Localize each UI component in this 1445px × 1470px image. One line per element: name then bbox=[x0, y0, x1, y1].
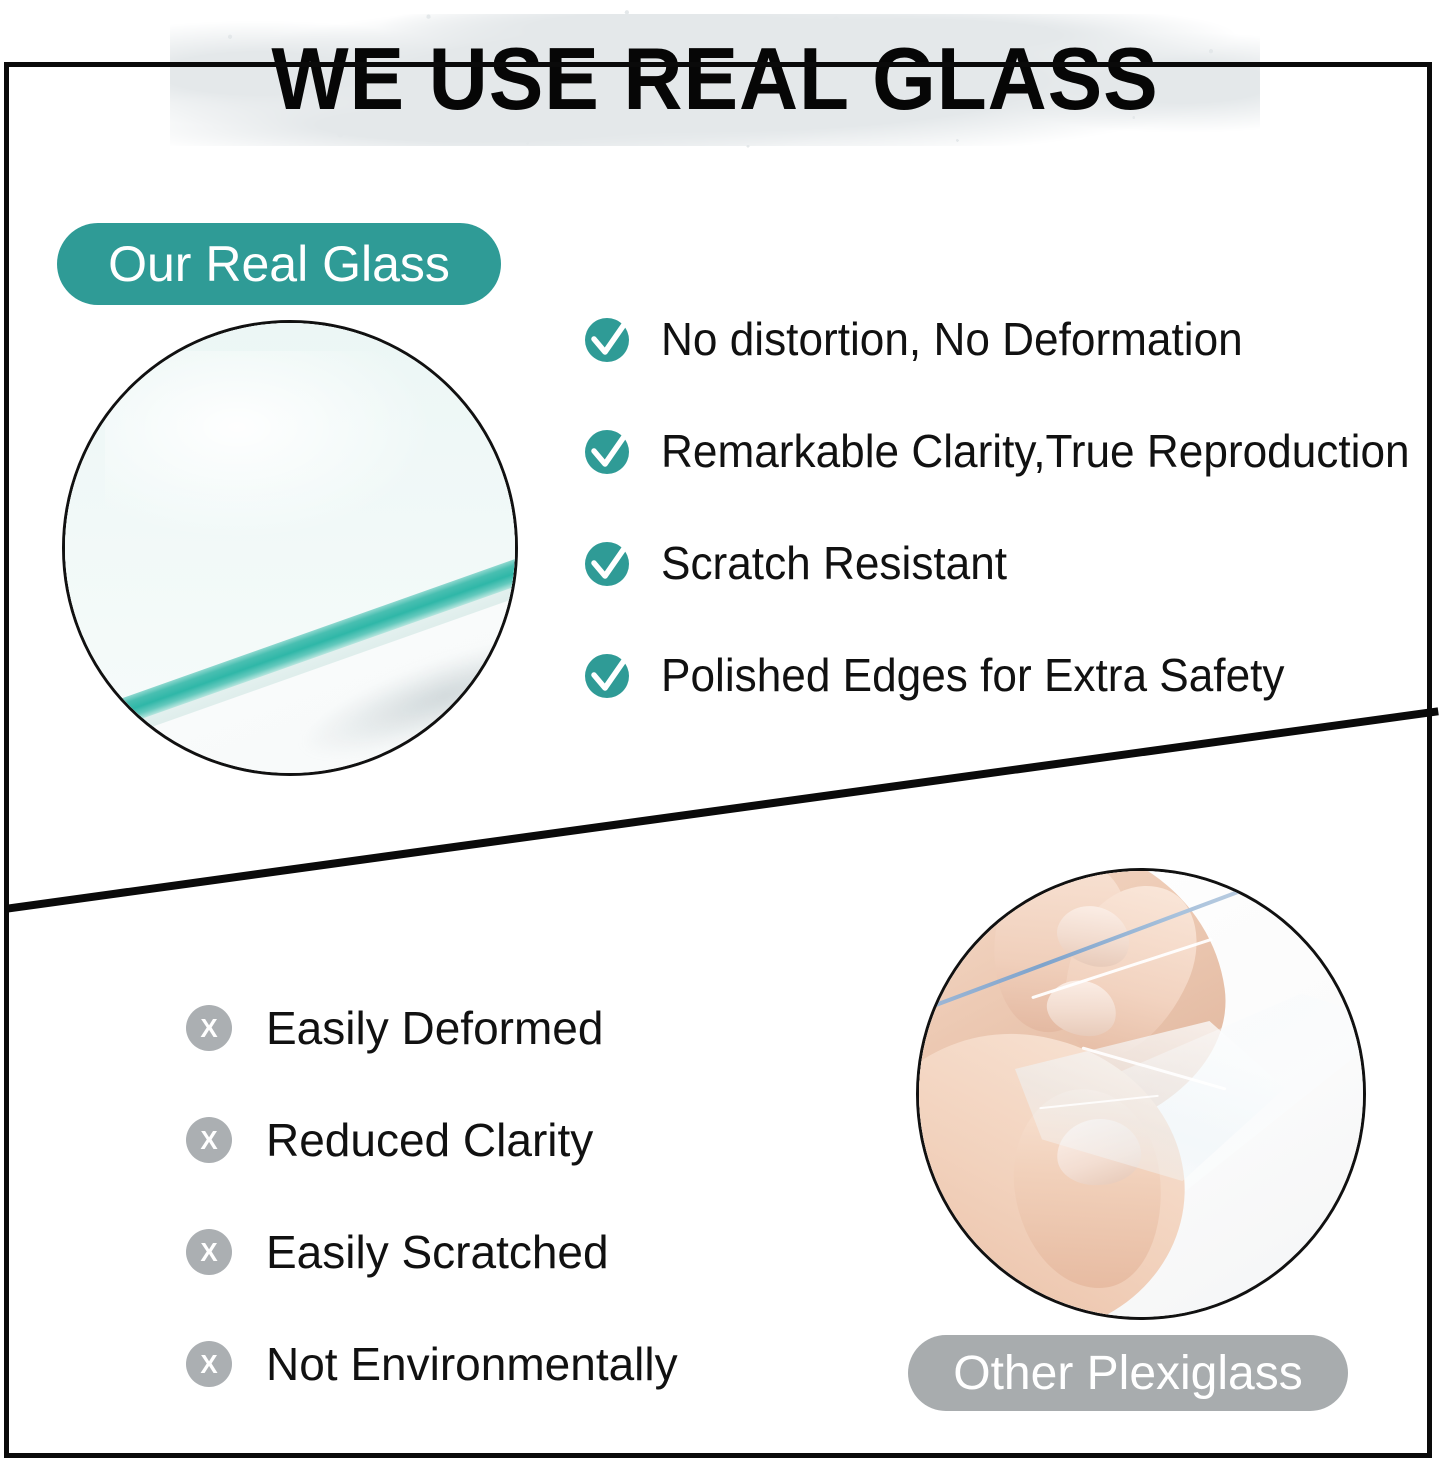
svg-text:X: X bbox=[200, 1349, 218, 1379]
check-icon bbox=[583, 426, 633, 476]
badge-our-real-glass-label: Our Real Glass bbox=[108, 235, 450, 293]
x-icon: X bbox=[186, 1229, 232, 1275]
x-icon: X bbox=[186, 1005, 232, 1051]
plexiglass-photo: Two hands bending a flexible transparent… bbox=[916, 868, 1366, 1320]
list-item: X Easily Scratched bbox=[186, 1196, 746, 1308]
drawback-label: Reduced Clarity bbox=[266, 1113, 593, 1167]
glass-highlight bbox=[105, 351, 435, 541]
feature-list-real-glass: No distortion, No Deformation Remarkable… bbox=[583, 283, 1433, 731]
real-glass-photo: Close-up of a tempered glass panel corne… bbox=[62, 320, 518, 776]
badge-other-plexiglass: Other Plexiglass bbox=[908, 1335, 1348, 1411]
check-icon bbox=[583, 650, 633, 700]
title-banner: WE USE REAL GLASS bbox=[170, 14, 1260, 146]
feature-label: Polished Edges for Extra Safety bbox=[661, 648, 1284, 702]
feature-label: No distortion, No Deformation bbox=[661, 312, 1243, 366]
feature-label: Scratch Resistant bbox=[661, 536, 1007, 590]
drawback-label: Not Environmentally bbox=[266, 1337, 678, 1391]
check-icon bbox=[583, 538, 633, 588]
svg-text:X: X bbox=[200, 1237, 218, 1267]
drawback-list-plexiglass: X Easily Deformed X Reduced Clarity X bbox=[186, 972, 746, 1420]
check-icon bbox=[583, 314, 633, 364]
feature-label: Remarkable Clarity,True Reproduction bbox=[661, 424, 1410, 478]
x-icon: X bbox=[186, 1117, 232, 1163]
badge-our-real-glass: Our Real Glass bbox=[57, 223, 501, 305]
svg-text:X: X bbox=[200, 1125, 218, 1155]
list-item: Polished Edges for Extra Safety bbox=[583, 619, 1433, 731]
badge-other-plexiglass-label: Other Plexiglass bbox=[953, 1346, 1302, 1401]
list-item: X Easily Deformed bbox=[186, 972, 746, 1084]
list-item: Scratch Resistant bbox=[583, 507, 1433, 619]
list-item: X Reduced Clarity bbox=[186, 1084, 746, 1196]
drawback-label: Easily Deformed bbox=[266, 1001, 603, 1055]
list-item: No distortion, No Deformation bbox=[583, 283, 1433, 395]
drawback-label: Easily Scratched bbox=[266, 1225, 609, 1279]
list-item: Remarkable Clarity,True Reproduction bbox=[583, 395, 1433, 507]
page-title: WE USE REAL GLASS bbox=[208, 30, 1222, 128]
x-icon: X bbox=[186, 1341, 232, 1387]
svg-text:X: X bbox=[200, 1013, 218, 1043]
list-item: X Not Environmentally bbox=[186, 1308, 746, 1420]
infographic-root: WE USE REAL GLASS Our Real Glass Close-u… bbox=[0, 0, 1445, 1470]
